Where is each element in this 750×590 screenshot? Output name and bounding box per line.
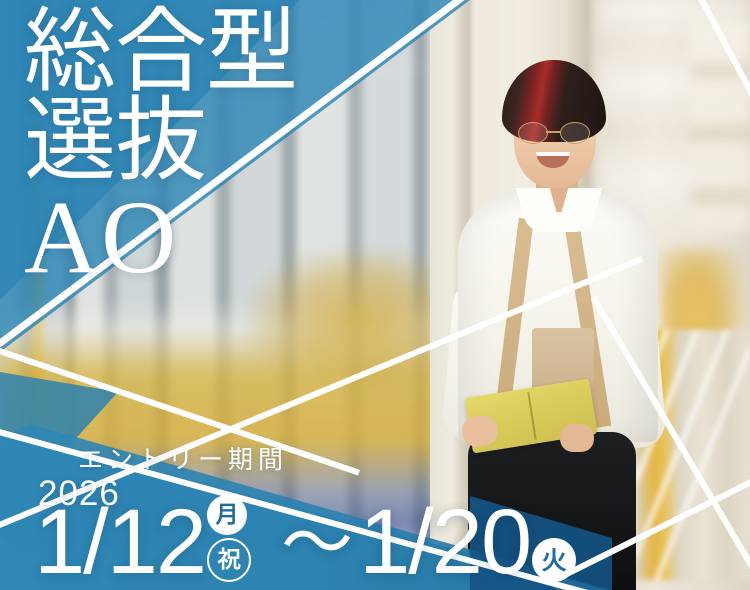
entry-period-label: エントリー期間 [78, 440, 288, 476]
title-line-2: 選抜 [24, 97, 444, 186]
admissions-banner: 総合型 選抜 AO エントリー期間 2026 1/12 月 祝 〜 1/20 火 [0, 0, 750, 590]
banner-title: 総合型 選抜 AO [24, 8, 444, 290]
glasses-icon [516, 122, 596, 142]
date-range-separator: 〜 [281, 508, 353, 580]
weekday-badge-end: 火 [532, 538, 576, 582]
end-date: 1/20 [359, 496, 530, 588]
title-line-3: AO [24, 186, 444, 290]
start-date-badges: 月 祝 [207, 495, 251, 582]
entry-date-range: 1/12 月 祝 〜 1/20 火 [34, 495, 576, 588]
hand-right [560, 424, 594, 452]
background-shelf-upper [690, 20, 750, 230]
holiday-badge-start: 祝 [207, 538, 251, 582]
weekday-badge-start: 月 [207, 495, 247, 535]
title-line-1: 総合型 [24, 8, 444, 97]
start-date: 1/12 [34, 496, 205, 588]
